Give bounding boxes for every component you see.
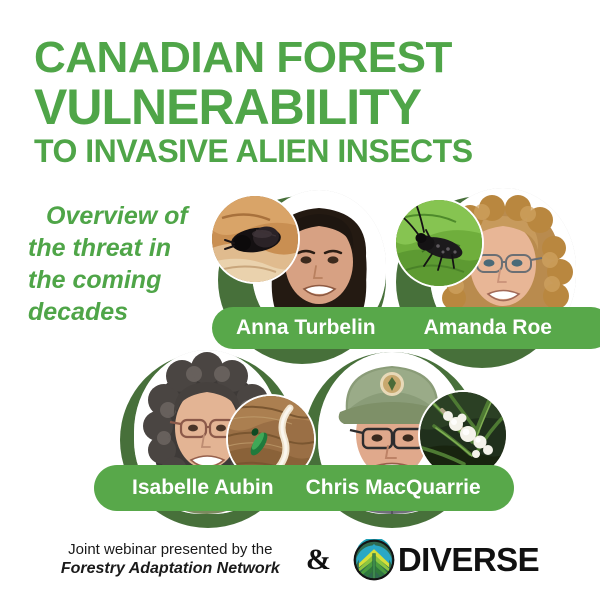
webinar-credit: Joint webinar presented by the Forestry … [61, 541, 280, 580]
speaker-name-chris-macquarrie: Chris MacQuarrie [306, 476, 481, 500]
diverse-tree-circle-logo-icon [353, 539, 395, 581]
speaker-name-amanda-roe: Amanda Roe [424, 316, 552, 340]
speaker-name-anna-turbelin: Anna Turbelin [236, 316, 376, 340]
speaker-name-isabelle-aubin: Isabelle Aubin [132, 476, 274, 500]
subtitle-line-1: Overview of [28, 200, 218, 232]
diverse-wordmark: DIVERSE [398, 541, 539, 579]
subtitle-line-4: decades [28, 296, 218, 328]
ampersand-separator: & [306, 543, 331, 577]
credit-line-2: Forestry Adaptation Network [61, 559, 280, 579]
longhorn-beetle-photo-inset [396, 200, 482, 286]
poster-subtitle: Overview of the threat in the coming dec… [28, 200, 218, 328]
title-line-1: CANADIAN FOREST [34, 36, 574, 80]
webinar-poster: CANADIAN FOREST VULNERABILITY TO INVASIV… [0, 0, 600, 600]
bark-beetle-photo-inset [212, 196, 298, 282]
subtitle-line-2: the threat in [28, 232, 218, 264]
poster-title: CANADIAN FOREST VULNERABILITY TO INVASIV… [34, 36, 574, 167]
title-line-2: VULNERABILITY [34, 82, 574, 132]
name-banner-bottom-row: Isabelle Aubin Chris MacQuarrie [94, 465, 514, 511]
subtitle-line-3: the coming [28, 264, 218, 296]
name-banner-top-row: Anna Turbelin Amanda Roe [212, 307, 600, 349]
poster-footer: Joint webinar presented by the Forestry … [0, 525, 600, 595]
diverse-logo: DIVERSE [353, 539, 539, 581]
title-line-3: TO INVASIVE ALIEN INSECTS [34, 135, 574, 167]
credit-line-1: Joint webinar presented by the [61, 541, 280, 560]
